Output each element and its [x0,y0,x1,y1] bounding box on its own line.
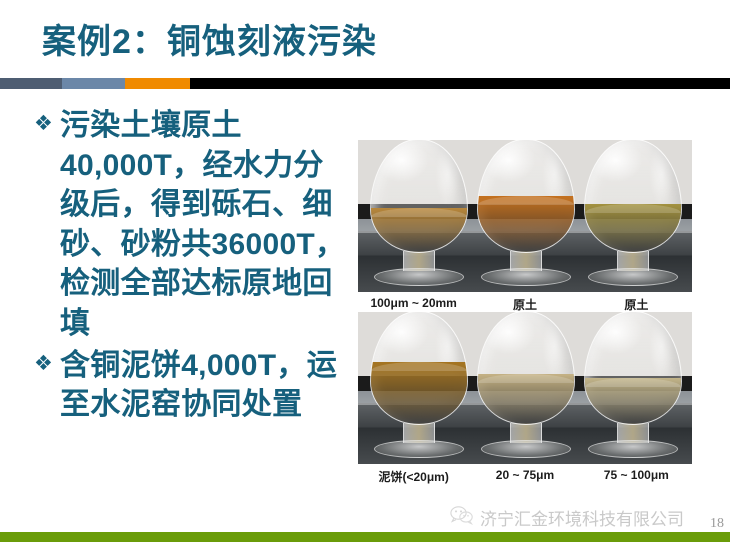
jar-base [588,268,678,286]
caption-top-2: 原土 [469,296,580,313]
caption-top-3: 原土 [581,296,692,313]
jar-sample-fill [585,204,681,252]
sample-jar-6 [584,312,682,458]
caption-bottom-1: 泥饼(<20μm) [358,468,469,485]
jar-glass-dome [477,312,575,425]
page-title: 案例2：铜蚀刻液污染 [42,14,377,63]
jar-base [588,440,678,458]
jar-base [481,268,571,286]
sample-jar-3 [584,140,682,286]
jar-glass-dome [370,140,468,253]
divider-segment-orange [125,78,190,89]
photo-block-bottom: 泥饼(<20μm) 20 ~ 75μm 75 ~ 100μm [358,312,692,490]
footer-green-bar [0,532,730,542]
jar-sample-fill [585,378,681,424]
sample-jar-2 [477,140,575,286]
footer-watermark: 济宁汇金环境科技有限公司 [450,505,684,530]
jar-glass-dome [477,140,575,253]
page-number: 18 [710,516,724,532]
sample-jar-4 [370,312,468,458]
photo-fine-fraction-samples [358,312,692,464]
diamond-bullet-icon: ❖ [34,106,60,142]
jar-sample-fill [371,362,467,424]
jar-glass-dome [370,312,468,425]
jar-glass-dome [584,312,682,425]
title-divider-bar [0,78,730,89]
divider-segment-steel-blue [62,78,125,89]
jar-sample-fill [478,374,574,424]
jar-sample-fill [371,208,467,252]
bullet-list: ❖ 污染土壤原土40,000T，经水力分级后，得到砾石、细砂、砂粉共36000T… [34,106,352,427]
diamond-bullet-icon: ❖ [34,346,60,382]
bullet-item-2: ❖ 含铜泥饼4,000T，运至水泥窑协同处置 [34,346,352,425]
bullet-item-2-text: 含铜泥饼4,000T，运至水泥窑协同处置 [60,346,352,425]
sample-jar-1 [370,140,468,286]
caption-bottom-2: 20 ~ 75μm [469,468,580,485]
wechat-logo-icon [450,505,474,530]
jar-sample-fill [478,196,574,252]
bullet-item-1-text: 污染土壤原土40,000T，经水力分级后，得到砾石、细砂、砂粉共36000T，检… [60,106,352,344]
footer-company-name: 济宁汇金环境科技有限公司 [480,505,684,530]
caption-row-bottom: 泥饼(<20μm) 20 ~ 75μm 75 ~ 100μm [358,464,692,490]
jar-base [374,268,464,286]
jar-base [374,440,464,458]
divider-segment-slate [0,78,62,89]
divider-segment-black [190,78,730,89]
photo-coarse-fraction-samples [358,140,692,292]
sample-jar-5 [477,312,575,458]
caption-top-1: 100μm ~ 20mm [358,296,469,313]
bullet-item-1: ❖ 污染土壤原土40,000T，经水力分级后，得到砾石、细砂、砂粉共36000T… [34,106,352,344]
photo-block-top: 100μm ~ 20mm 原土 原土 [358,140,692,318]
jar-glass-dome [584,140,682,253]
jar-base [481,440,571,458]
caption-bottom-3: 75 ~ 100μm [581,468,692,485]
